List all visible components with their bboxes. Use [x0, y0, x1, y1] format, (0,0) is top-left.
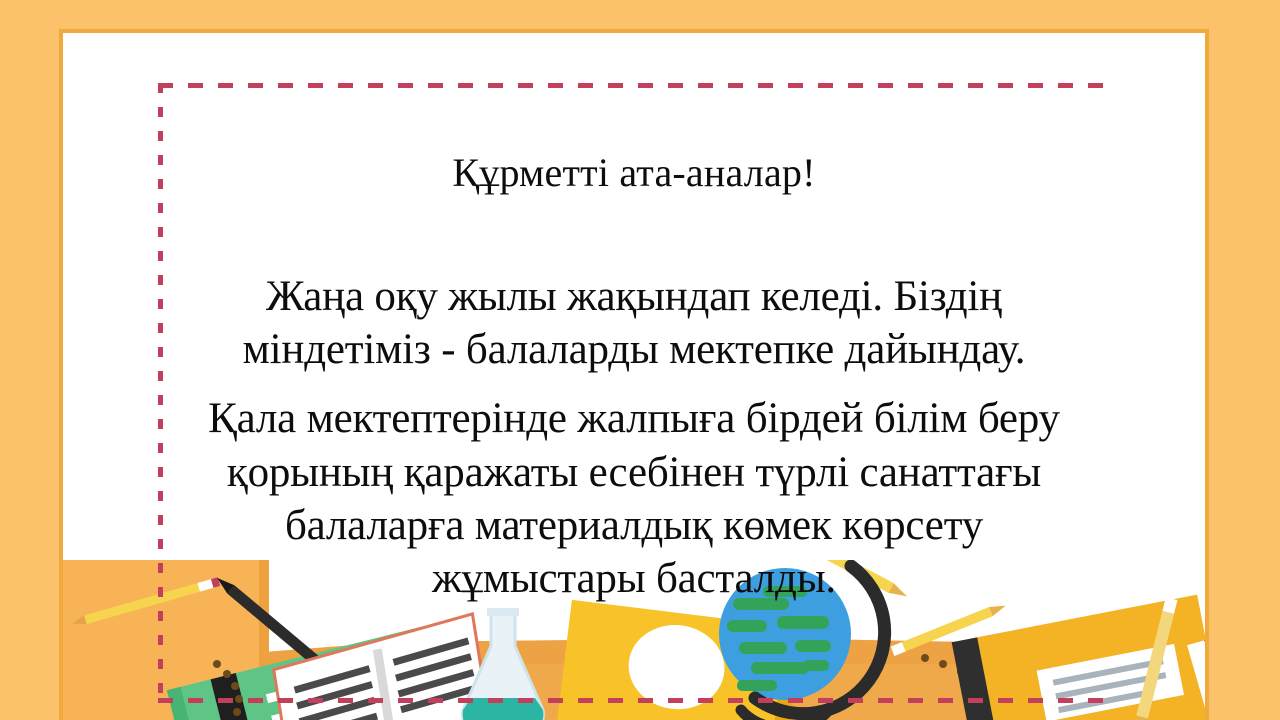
- content-card: Құрметті ата-аналар! Жаңа оқу жылы жақын…: [63, 33, 1205, 720]
- body-paragraph-1: Жаңа оқу жылы жақындап келеді. Біздің мі…: [183, 270, 1085, 377]
- dashed-border-bottom: [158, 698, 1103, 703]
- body-paragraph-2: Қала мектептерінде жалпыға бірдей білім …: [183, 392, 1085, 605]
- dashed-border-top: [158, 83, 1103, 88]
- page-title: Құрметті ата-аналар!: [183, 151, 1085, 196]
- slide-text-block: Құрметті ата-аналар! Жаңа оқу жылы жақын…: [183, 151, 1085, 606]
- slide: Құрметті ата-аналар! Жаңа оқу жылы жақын…: [0, 0, 1280, 720]
- dashed-border-left: [158, 83, 163, 703]
